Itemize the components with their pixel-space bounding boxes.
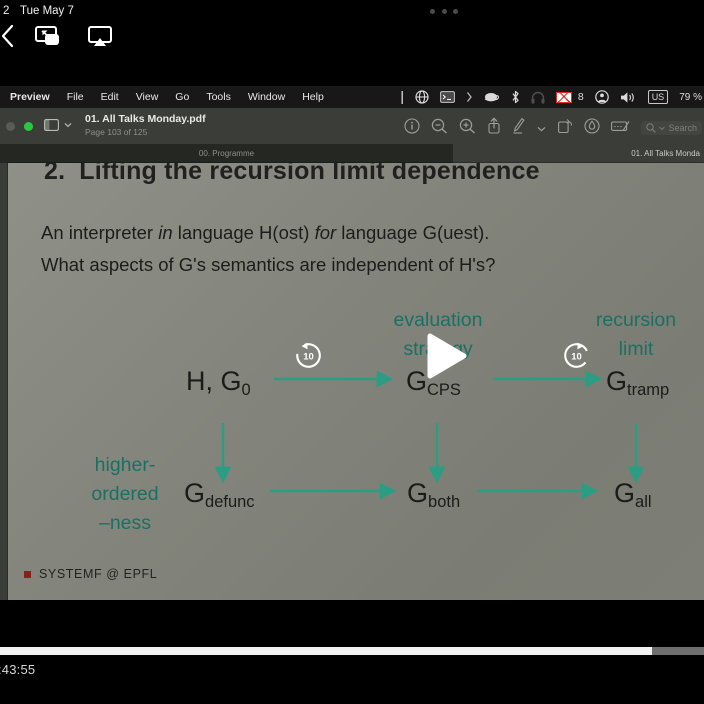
search-field[interactable]: Search — [641, 121, 702, 135]
node-sub: CPS — [427, 381, 461, 399]
terminal-icon[interactable] — [440, 91, 455, 103]
gmail-unread-count: 8 — [578, 91, 584, 103]
footer-bullet-icon — [24, 571, 31, 578]
node-g-both: Gboth — [407, 480, 460, 511]
volume-icon[interactable] — [620, 91, 637, 104]
tab-bar: 00. Programme 01. All Talks Monda — [0, 144, 704, 163]
battery-percentage[interactable]: 79 % — [679, 92, 702, 103]
node-base: G — [407, 478, 428, 508]
menu-item-window[interactable]: Window — [248, 91, 285, 103]
picture-in-picture-icon[interactable] — [34, 24, 66, 50]
menu-item-help[interactable]: Help — [302, 91, 324, 103]
node-g-defunc: Gdefunc — [184, 480, 255, 511]
menu-item-file[interactable]: File — [67, 91, 84, 103]
elapsed-time: :43:55 — [0, 662, 35, 677]
node-sub: tramp — [627, 381, 669, 399]
globe-icon[interactable] — [415, 90, 429, 104]
rotate-icon[interactable] — [557, 118, 573, 139]
tab-all-talks-monday[interactable]: 01. All Talks Monda — [453, 144, 704, 163]
headphones-icon[interactable] — [531, 91, 545, 104]
markup-pen-icon[interactable] — [512, 117, 526, 139]
toolbar-icon-group: Search — [404, 117, 702, 139]
label-higher-orderedness: higher-ordered–ness — [70, 451, 180, 538]
menu-item-preview[interactable]: Preview — [10, 91, 50, 103]
node-base: G — [406, 366, 427, 396]
scrubber-progress[interactable] — [0, 647, 652, 655]
screen: 2 Tue May 7 Preview File Edit View Go To… — [0, 0, 704, 704]
signature-icon[interactable] — [611, 119, 630, 138]
node-base: G — [614, 478, 635, 508]
node-sub: both — [428, 493, 460, 511]
text-cursor-icon[interactable] — [400, 91, 404, 104]
airplay-icon[interactable] — [86, 24, 114, 50]
svg-text:10: 10 — [303, 352, 314, 363]
scrubber-track[interactable] — [0, 647, 704, 655]
node-base: G — [184, 478, 205, 508]
menu-bar-status-items: 8 US 79 % — [400, 86, 702, 108]
sidebar-toggle-icon — [44, 119, 59, 131]
node-g-tramp: Gtramp — [606, 368, 669, 399]
node-base: H, G — [186, 366, 242, 396]
skip-back-10-icon[interactable]: 10 — [295, 342, 322, 369]
chevron-down-icon — [659, 126, 665, 131]
menu-item-view[interactable]: View — [136, 91, 159, 103]
document-page-indicator: Page 103 of 125 — [85, 126, 206, 138]
menu-items: Preview File Edit View Go Tools Window H… — [10, 86, 324, 108]
slide-footer: SYSTEMF @ EPFL — [24, 567, 157, 581]
ellipsis-icon[interactable] — [430, 5, 458, 17]
node-sub: all — [635, 493, 652, 511]
zoom-in-icon[interactable] — [459, 118, 476, 139]
gmail-icon[interactable]: 8 — [556, 91, 584, 103]
zoom-out-icon[interactable] — [431, 118, 448, 139]
preview-window: 01. All Talks Monday.pdf Page 103 of 125 — [0, 108, 704, 600]
node-sub: 0 — [242, 381, 251, 399]
chevron-right-icon[interactable] — [466, 91, 473, 103]
menu-item-tools[interactable]: Tools — [206, 91, 231, 103]
chevron-left-icon[interactable] — [0, 22, 16, 50]
account-circle-icon[interactable] — [595, 90, 609, 104]
chevron-down-icon[interactable] — [537, 119, 546, 137]
info-icon[interactable] — [404, 118, 420, 139]
menu-item-edit[interactable]: Edit — [101, 91, 119, 103]
sidebar-toggle-button[interactable] — [44, 119, 72, 131]
ios-status-bar: 2 Tue May 7 — [0, 0, 704, 22]
share-icon[interactable] — [487, 117, 501, 139]
node-sub: defunc — [205, 493, 255, 511]
video-player-controls: :43:55 — [0, 600, 704, 704]
carrier-label: 2 — [3, 0, 9, 22]
window-toolbar: 01. All Talks Monday.pdf Page 103 of 125 — [0, 108, 704, 144]
play-icon[interactable] — [425, 333, 467, 379]
traffic-lights[interactable] — [6, 122, 33, 131]
highlight-icon[interactable] — [584, 118, 600, 139]
footer-label: SYSTEMF @ EPFL — [39, 567, 157, 581]
coffee-cup-icon[interactable] — [484, 91, 500, 104]
node-g-all: Gall — [614, 480, 652, 511]
tab-programme[interactable]: 00. Programme — [0, 144, 453, 163]
document-title: 01. All Talks Monday.pdf — [85, 113, 206, 126]
node-h-g0: H, G0 — [186, 368, 251, 399]
bluetooth-icon[interactable] — [511, 90, 520, 104]
svg-text:10: 10 — [571, 352, 582, 363]
keyboard-layout-indicator[interactable]: US — [648, 90, 669, 104]
document-title-block: 01. All Talks Monday.pdf Page 103 of 125 — [85, 113, 206, 138]
search-input[interactable]: Search — [668, 123, 697, 133]
mac-menu-bar: Preview File Edit View Go Tools Window H… — [0, 86, 704, 108]
chevron-down-icon — [64, 122, 72, 128]
node-base: G — [606, 366, 627, 396]
skip-forward-10-icon[interactable]: 10 — [563, 342, 590, 369]
pdf-page[interactable]: 2.Lifting the recursion limit dependence… — [8, 163, 704, 600]
search-icon — [646, 123, 656, 133]
menu-item-go[interactable]: Go — [175, 91, 189, 103]
date-label: Tue May 7 — [20, 0, 74, 22]
